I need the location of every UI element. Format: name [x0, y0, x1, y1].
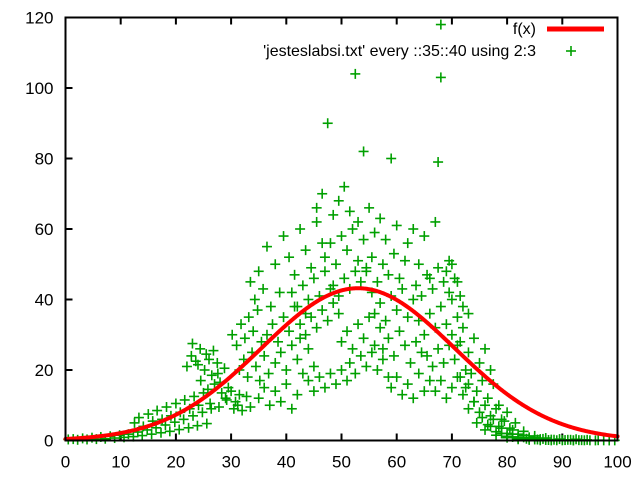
x-tick-label: 50 [332, 453, 351, 472]
x-tick-label: 60 [387, 453, 406, 472]
legend-entry-label-fx: f(x) [513, 21, 536, 38]
gnuplot-chart-canvas: 020406080100120 0102030405060708090100 f… [0, 0, 640, 480]
x-tick-label: 20 [166, 453, 185, 472]
x-tick-label: 100 [603, 453, 631, 472]
chart-background [0, 0, 640, 480]
y-tick-label: 60 [35, 220, 54, 239]
y-tick-label: 120 [25, 9, 53, 28]
y-tick-label: 20 [35, 361, 54, 380]
x-tick-label: 30 [222, 453, 241, 472]
y-tick-label: 80 [35, 150, 54, 169]
x-tick-label: 90 [553, 453, 572, 472]
x-tick-label: 70 [442, 453, 461, 472]
chart-svg: 020406080100120 0102030405060708090100 f… [0, 0, 640, 480]
x-tick-label: 80 [498, 453, 517, 472]
legend-entry-label-datafile: 'jesteslabsi.txt' every ::35::40 using 2… [263, 43, 536, 60]
x-tick-label: 0 [61, 453, 70, 472]
y-tick-label: 40 [35, 291, 54, 310]
y-tick-label: 0 [44, 432, 53, 451]
x-tick-label: 40 [277, 453, 296, 472]
x-tick-label: 10 [111, 453, 130, 472]
y-tick-label: 100 [25, 79, 53, 98]
